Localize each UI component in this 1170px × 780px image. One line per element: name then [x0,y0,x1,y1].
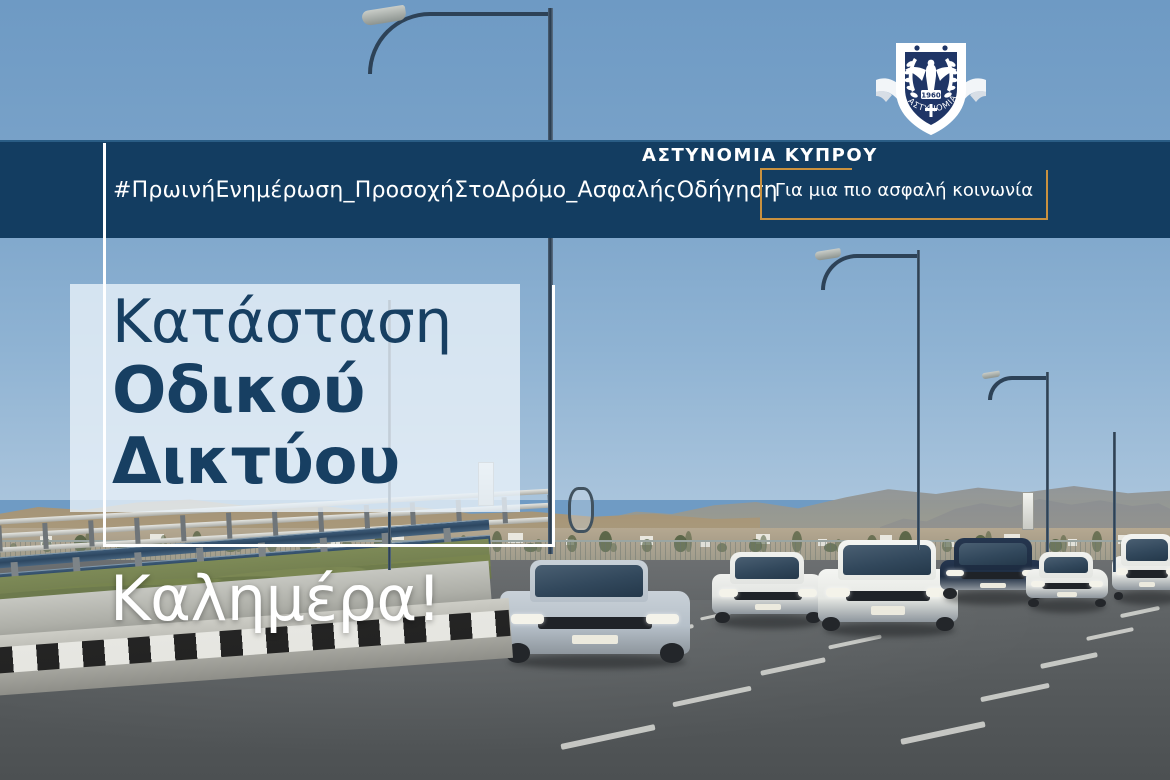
headlight-left [946,570,964,576]
wheel-left [715,612,730,624]
organization-name: ΑΣΤΥΝΟΜΙΑ ΚΥΠΡΟΥ [0,145,1170,166]
title-line-1: Κατάσταση [112,294,542,351]
vehicle-silver-sedan [500,560,690,664]
title-line-2: Οδικού [112,361,542,422]
banner-top-rule [0,140,1170,142]
licence-plate [755,604,782,610]
headlight-left [1031,581,1045,587]
streetlight-2 [821,250,927,550]
streetlight-pole [1046,372,1049,552]
wheel-right [660,643,685,663]
svg-text:1960: 1960 [921,92,941,100]
streetlight-5 [1113,432,1123,572]
vehicle-shadow [508,655,687,669]
wheel-right [1095,599,1106,608]
sign-ring [568,487,594,533]
frame-bottom-line [103,544,555,547]
page-title: Κατάσταση Οδικού Δικτύου [112,294,542,493]
title-line-3: Δικτύου [112,432,542,493]
rail-post [226,513,232,539]
headlight-right [1166,568,1170,575]
licence-plate [980,583,1005,589]
windshield [1044,557,1088,573]
greeting-text: Καλημέρα! [110,562,441,635]
headlight-left [826,588,850,597]
organization-motto: Για μια πιο ασφαλή κοινωνία [760,180,1048,201]
rail-post [134,518,140,544]
headlight-left [719,589,738,596]
poster-root: #ΠρωινήΕνημέρωση_ΠροσοχήΣτοΔρόμο_Ασφαλής… [0,0,1170,780]
licence-plate [572,635,618,644]
rail-post [88,520,94,546]
vehicle-white-suv [818,540,958,632]
streetlight-arm [821,254,917,290]
headlight-right [798,589,817,596]
rail-post [272,510,278,536]
wheel-left [1114,592,1123,599]
rail-post [180,515,186,541]
frame-left-line [103,143,106,547]
vehicle-white-hatchback [712,552,824,624]
grille [1126,570,1168,577]
wheel-right [936,617,954,632]
streetlight-pole [1113,432,1116,572]
streetlight-pole [917,250,920,550]
headlight-right [646,614,678,624]
streetlight-arm [988,376,1046,400]
grille [734,592,801,600]
streetlight-head [982,371,1001,380]
roadside-sign-box-right [1022,492,1034,530]
grille [538,617,652,628]
rail-post [42,523,48,549]
organization-name-text: ΑΣΤΥΝΟΜΙΑ ΚΥΠΡΟΥ [642,145,878,166]
grille [1042,583,1091,589]
grille [961,572,1025,579]
cyprus-police-emblem-icon: 1960 ΑΣΤΥΝΟΜΙΑ ΚΥΠΡΟΥ [872,18,990,140]
headlight-left [511,614,543,624]
frame-right-line [552,285,555,547]
licence-plate [1139,582,1156,588]
windshield [535,565,643,597]
headlight-right [1089,581,1103,587]
licence-plate [871,606,905,614]
campaign-hashtag: #ΠρωινήΕνημέρωση_ΠροσοχήΣτοΔρόμο_Ασφαλής… [113,178,778,203]
vehicle-white-compact [1026,552,1108,608]
grille [846,591,930,601]
windshield [735,557,799,579]
licence-plate [1057,592,1077,597]
windshield [1126,539,1168,561]
rail-post [0,525,3,551]
